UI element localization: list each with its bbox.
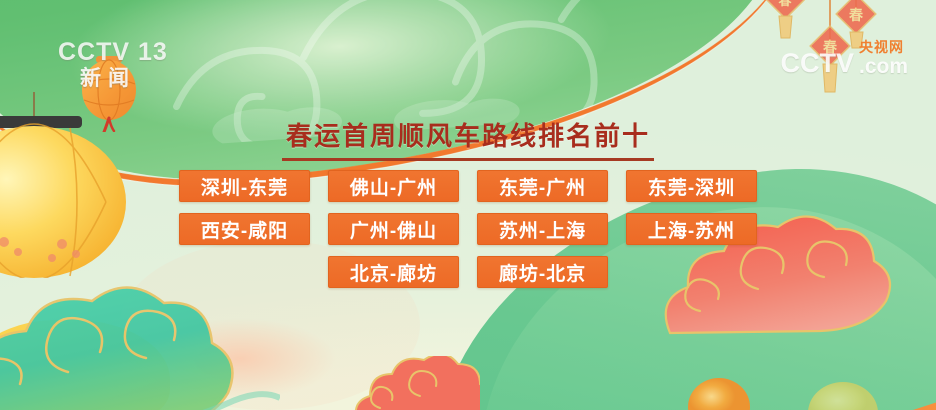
route-pill[interactable]: 北京-廊坊 [328,256,459,288]
route-row: 北京-廊坊廊坊-北京 [0,256,936,288]
route-pill[interactable]: 上海-苏州 [626,213,757,245]
headline-wrapper: 春运首周顺风车路线排名前十 [0,122,936,161]
page-title: 春运首周顺风车路线排名前十 [282,122,654,161]
route-pill[interactable]: 广州-佛山 [328,213,459,245]
broadcast-graphic: 春 春 春 CCTV 13 新闻 CCTV 央视网 .com [0,0,936,410]
route-row: 西安-咸阳广州-佛山苏州-上海上海-苏州 [0,213,936,245]
route-pill[interactable]: 深圳-东莞 [179,170,310,202]
graphic-content: 春运首周顺风车路线排名前十 深圳-东莞佛山-广州东莞-广州东莞-深圳西安-咸阳广… [0,0,936,410]
route-pill[interactable]: 苏州-上海 [477,213,608,245]
route-list: 深圳-东莞佛山-广州东莞-广州东莞-深圳西安-咸阳广州-佛山苏州-上海上海-苏州… [0,170,936,299]
route-pill[interactable]: 西安-咸阳 [179,213,310,245]
route-row: 深圳-东莞佛山-广州东莞-广州东莞-深圳 [0,170,936,202]
route-pill[interactable]: 东莞-广州 [477,170,608,202]
route-pill[interactable]: 佛山-广州 [328,170,459,202]
route-pill[interactable]: 廊坊-北京 [477,256,608,288]
route-pill[interactable]: 东莞-深圳 [626,170,757,202]
